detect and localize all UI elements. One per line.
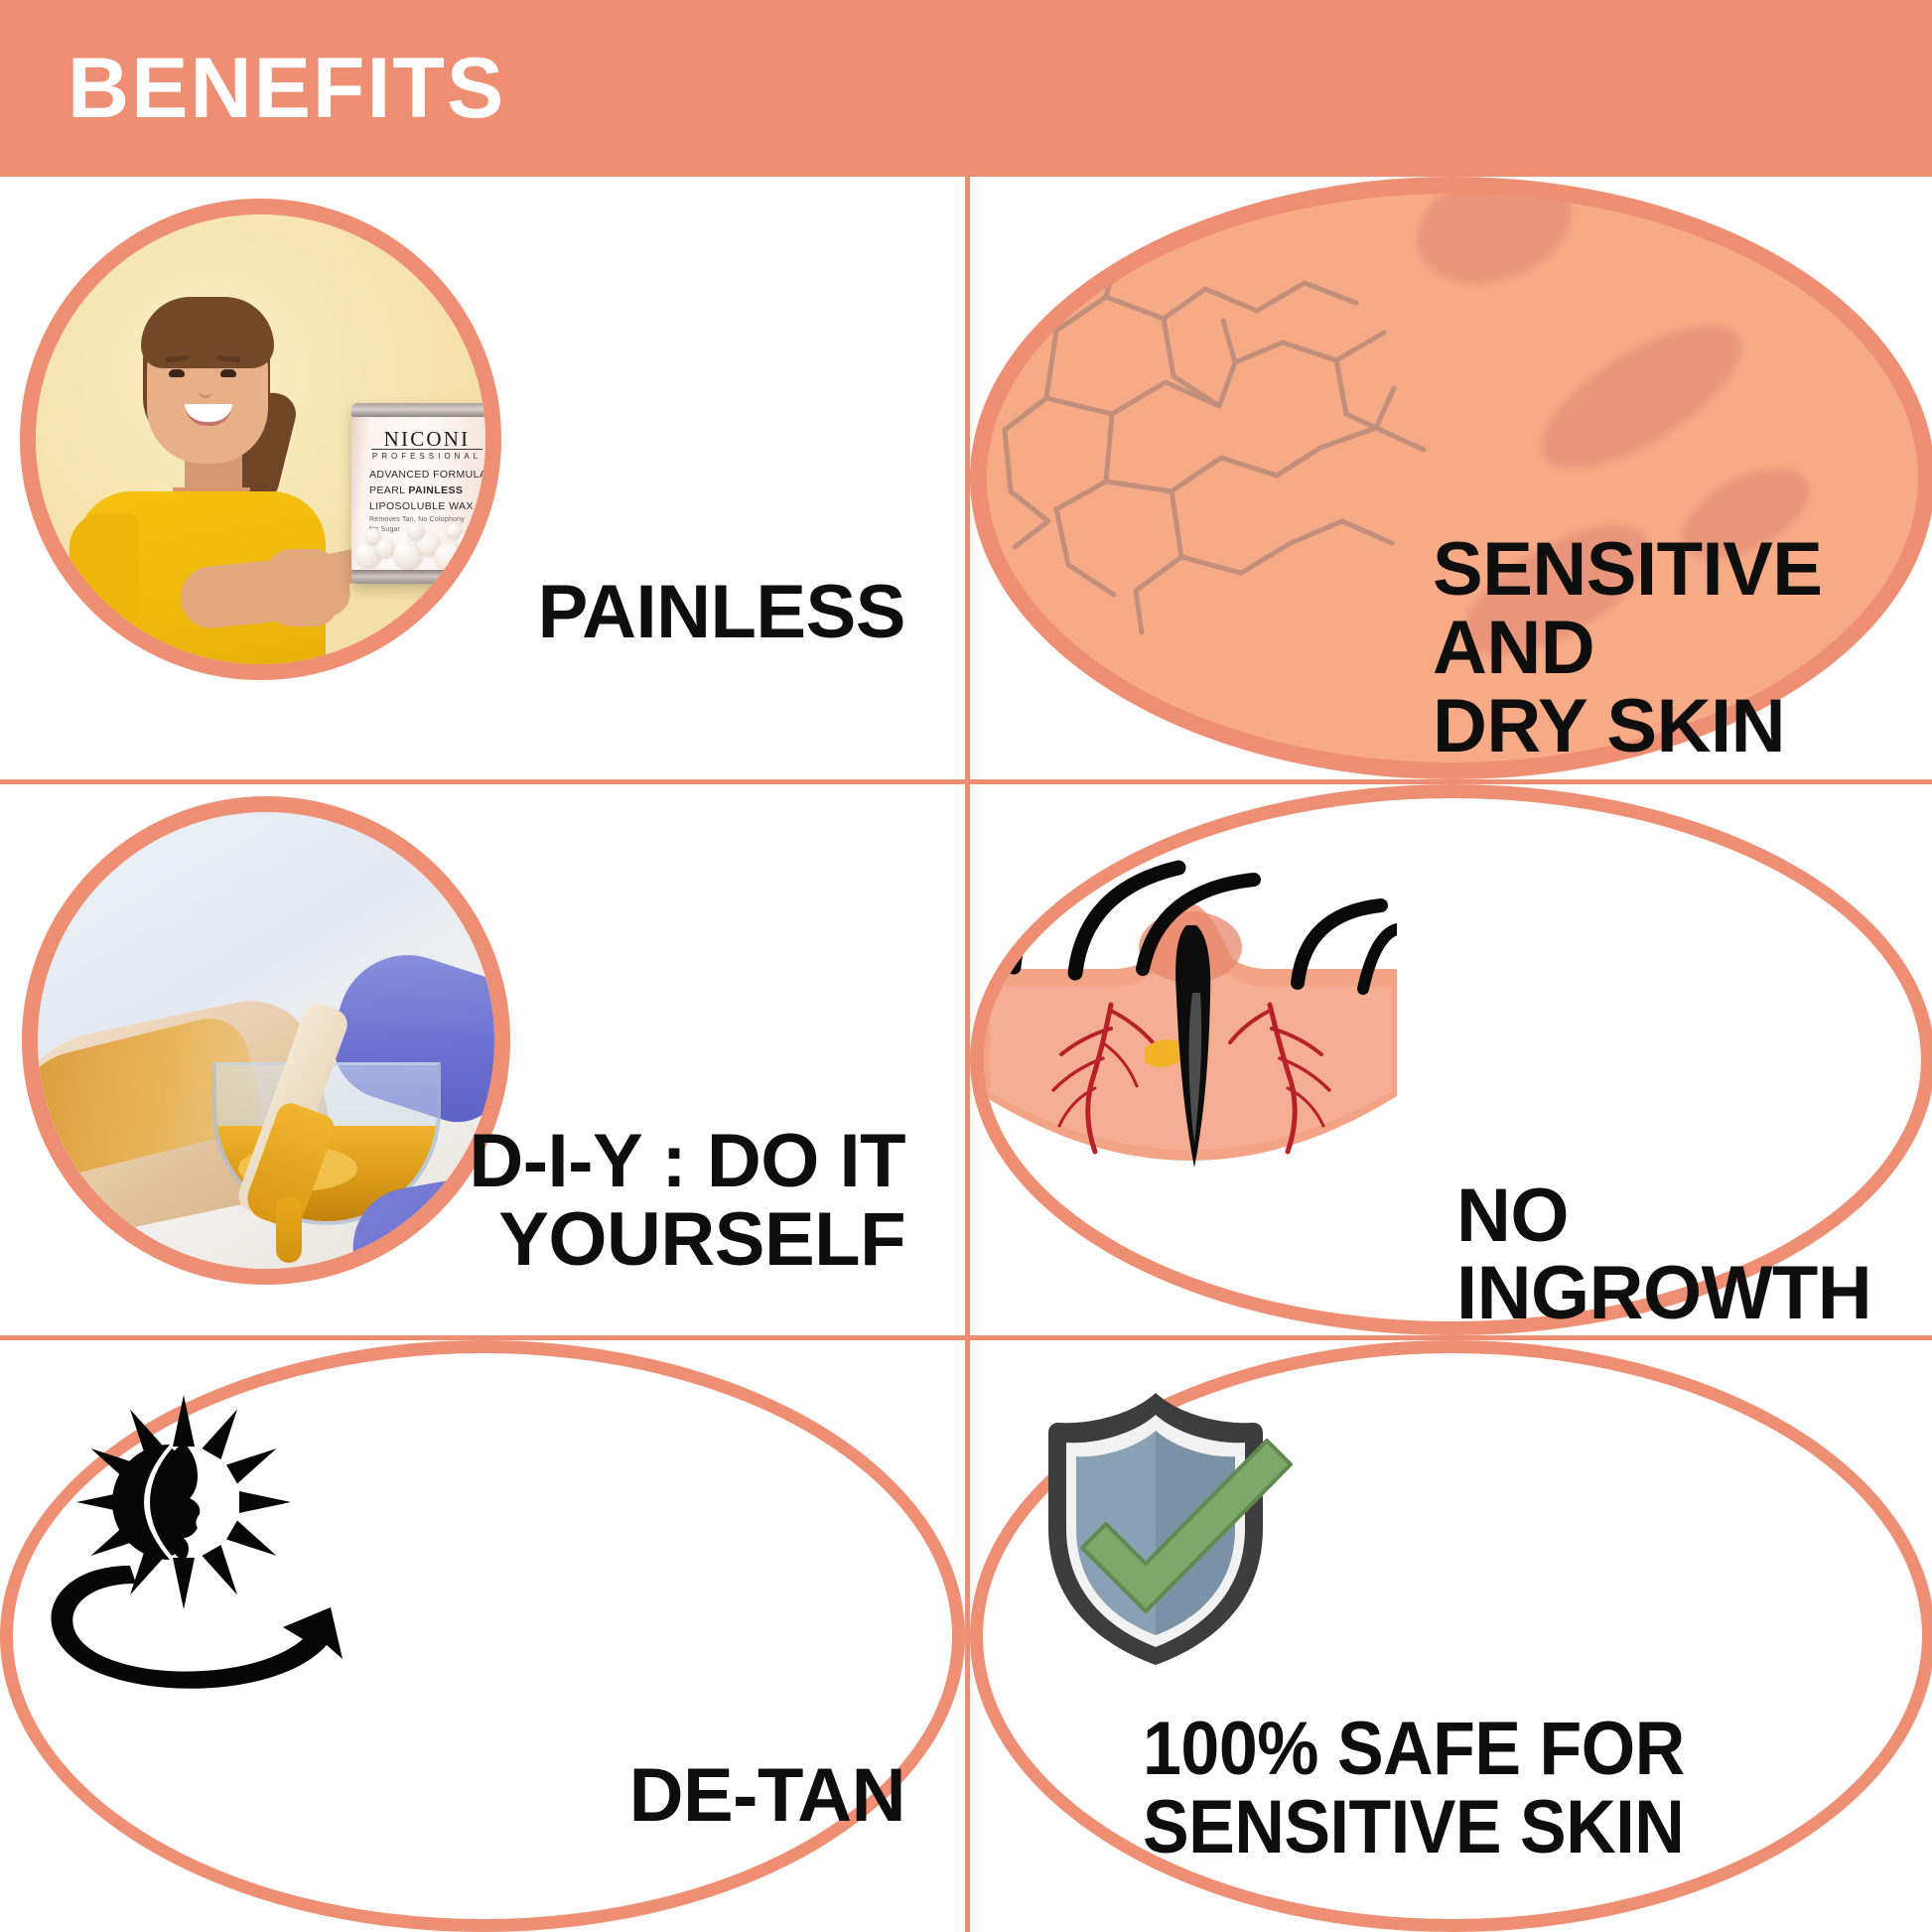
sleeve-left: [69, 513, 139, 632]
benefit-cell-no-ingrowth: NO INGROWTH: [970, 784, 1932, 1335]
product-line-2: PEARL PAINLESS: [369, 484, 463, 496]
can-body: NICONI PROFESSIONAL ADVANCED FORMULATION…: [351, 403, 501, 584]
product-line-2-normal: PEARL: [369, 484, 408, 496]
benefit-cell-safe-sensitive-skin: 100% SAFE FOR SENSITIVE SKIN: [970, 1340, 1932, 1932]
eye-left: [169, 369, 185, 377]
benefit-label-painless: PAINLESS: [199, 574, 905, 651]
header-banner: BENEFITS: [0, 0, 1932, 177]
benefit-cell-sensitive-dry-skin: SENSITIVE AND DRY SKIN: [970, 177, 1932, 779]
benefit-label-de-tan: DE-TAN: [179, 1757, 905, 1835]
sun-detan-icon: [0, 1340, 367, 1708]
page-title: BENEFITS: [68, 46, 505, 131]
benefit-label-line-2: SENSITIVE SKIN: [1143, 1788, 1873, 1866]
product-line-2-bold: PAINLESS: [408, 484, 463, 496]
benefit-label-line-2: DRY SKIN: [1433, 687, 1929, 765]
hair-follicle-icon: [970, 784, 1411, 1225]
pearl-beads: [351, 514, 501, 570]
detan-circle: [0, 1340, 965, 1932]
benefit-label-line-2: YOURSELF: [179, 1200, 905, 1279]
product-can: NICONI PROFESSIONAL ADVANCED FORMULATION…: [351, 403, 501, 584]
shield-check-icon: [970, 1340, 1341, 1712]
eye-right: [220, 369, 236, 377]
benefits-grid: NICONI PROFESSIONAL ADVANCED FORMULATION…: [0, 177, 1932, 1932]
benefits-infographic: BENEFITS: [0, 0, 1932, 1932]
shield-glyph: [983, 1353, 1328, 1699]
can-lid: [351, 403, 501, 417]
brand-rule: [371, 449, 483, 450]
benefit-label-diy: D-I-Y : DO IT YOURSELF: [179, 1122, 905, 1279]
benefit-label-line-1: 100% SAFE FOR: [1143, 1710, 1873, 1788]
benefit-label-no-ingrowth: NO INGROWTH: [1456, 1177, 1932, 1331]
product-brand-sub: PROFESSIONAL: [351, 452, 501, 461]
benefit-cell-diy: D-I-Y : DO IT YOURSELF: [0, 784, 965, 1335]
cracked-dry-skin-icon: [970, 177, 1466, 673]
benefit-label-safe-sensitive-skin: 100% SAFE FOR SENSITIVE SKIN: [1143, 1710, 1873, 1866]
follicle-illustration: [984, 798, 1397, 1211]
skin-cracks: [987, 194, 1449, 656]
product-line-1: ADVANCED FORMULATION: [369, 469, 501, 481]
sun-moon-orbit-glyph: [13, 1353, 354, 1695]
benefit-cell-de-tan: DE-TAN: [0, 1340, 965, 1932]
benefit-cell-painless: NICONI PROFESSIONAL ADVANCED FORMULATION…: [0, 177, 965, 779]
hair-top: [141, 297, 274, 368]
product-line-3: LIPOSOLUBLE WAX: [369, 500, 474, 512]
benefit-label-sensitive-dry-skin: SENSITIVE AND DRY SKIN: [1433, 530, 1929, 765]
benefit-label-line-1: D-I-Y : DO IT: [179, 1122, 905, 1200]
nose: [199, 382, 212, 398]
benefit-label-line-1: SENSITIVE AND: [1433, 530, 1929, 687]
